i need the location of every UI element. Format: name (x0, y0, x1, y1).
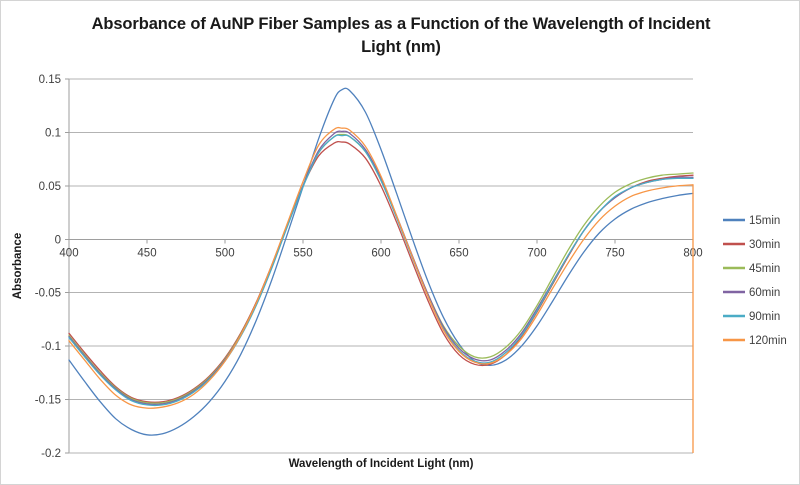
x-axis-tick-label: 500 (215, 247, 234, 259)
y-axis-tick-label: 0.15 (39, 74, 61, 86)
legend-item-15min[interactable]: 15min (723, 215, 780, 227)
legend-item-30min[interactable]: 30min (723, 239, 780, 251)
legend-item-120min[interactable]: 120min (723, 335, 787, 347)
x-axis-tick-label: 550 (293, 247, 312, 259)
legend-label-15min: 15min (749, 215, 780, 227)
legend-label-60min: 60min (749, 287, 780, 299)
y-axis-tick-label: -0.05 (35, 288, 61, 300)
x-axis-tick-label: 650 (449, 247, 468, 259)
legend-item-90min[interactable]: 90min (723, 311, 780, 323)
series-line-120min (69, 128, 693, 409)
chart-legend: 15min30min45min60min90min120min (723, 215, 787, 347)
x-axis-tick-label: 400 (59, 247, 78, 259)
y-axis-title: Absorbance (12, 233, 24, 299)
y-axis-tick-label: 0 (55, 234, 61, 246)
y-axis-tick-label: 0.05 (39, 181, 61, 193)
y-axis-tick-label: -0.15 (35, 395, 61, 407)
x-axis-tick-label: 700 (527, 247, 546, 259)
legend-label-90min: 90min (749, 311, 780, 323)
series-line-60min (69, 131, 693, 404)
chart-plot: 0.150.10.050-0.05-0.1-0.15-0.24004505005… (1, 1, 800, 485)
x-axis-tick-label: 750 (605, 247, 624, 259)
chart-window: Absorbance of AuNP Fiber Samples as a Fu… (0, 0, 800, 485)
series-line-15min (69, 88, 693, 435)
legend-label-30min: 30min (749, 239, 780, 251)
legend-item-45min[interactable]: 45min (723, 263, 780, 275)
x-axis-title: Wavelength of Incident Light (nm) (289, 458, 474, 470)
y-axis-tick-label: 0.1 (45, 127, 61, 139)
legend-label-45min: 45min (749, 263, 780, 275)
legend-label-120min: 120min (749, 335, 787, 347)
plot-area-container: 0.150.10.050-0.05-0.1-0.15-0.24004505005… (1, 1, 800, 485)
y-axis-tick-label: -0.2 (41, 448, 61, 460)
x-axis-tick-label: 450 (137, 247, 156, 259)
x-axis-tick-label: 600 (371, 247, 390, 259)
legend-item-60min[interactable]: 60min (723, 287, 780, 299)
y-axis-tick-label: -0.1 (41, 341, 61, 353)
